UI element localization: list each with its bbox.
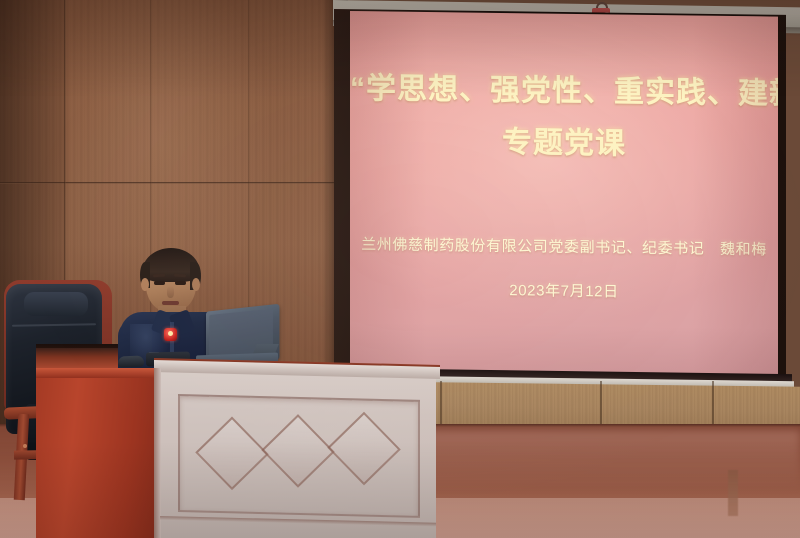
podium-left-edge bbox=[154, 368, 161, 538]
projection-screen: “学思想、强党性、重实践、建新功” 专题党课 兰州佛慈制药股份有限公司党委副书记… bbox=[350, 11, 778, 379]
chair-headrest bbox=[24, 292, 88, 316]
slide-subtitle-line1: 兰州佛慈制药股份有限公司党委副书记、纪委书记 魏和梅 bbox=[350, 233, 778, 260]
person-eye bbox=[175, 281, 186, 285]
person-mouth bbox=[162, 301, 179, 305]
person-nose bbox=[167, 286, 174, 298]
chair-screw bbox=[23, 444, 27, 448]
slide-subtitle-date: 2023年7月12日 bbox=[350, 277, 778, 304]
slide-title-line1: “学思想、强党性、重实践、建新功” bbox=[350, 63, 778, 113]
floor-post bbox=[728, 470, 738, 516]
photo-scene: “学思想、强党性、重实践、建新功” 专题党课 兰州佛慈制药股份有限公司党委副书记… bbox=[0, 0, 800, 538]
podium-diamond-motif bbox=[327, 412, 401, 486]
podium-side-panel bbox=[36, 372, 164, 538]
podium-diamond-motif bbox=[195, 417, 269, 491]
person-ear bbox=[192, 278, 200, 291]
pin-star-detail bbox=[168, 331, 173, 336]
person-eye bbox=[154, 281, 165, 285]
podium-recessed-panel bbox=[178, 394, 420, 518]
podium-lectern bbox=[36, 358, 436, 538]
wall-seam-horizontal bbox=[0, 182, 346, 184]
podium-diamond-motif bbox=[261, 414, 335, 488]
slide-title-line2: 专题党课 bbox=[350, 115, 778, 165]
person-ear bbox=[141, 278, 149, 291]
podium-side-top-edge bbox=[36, 368, 166, 378]
